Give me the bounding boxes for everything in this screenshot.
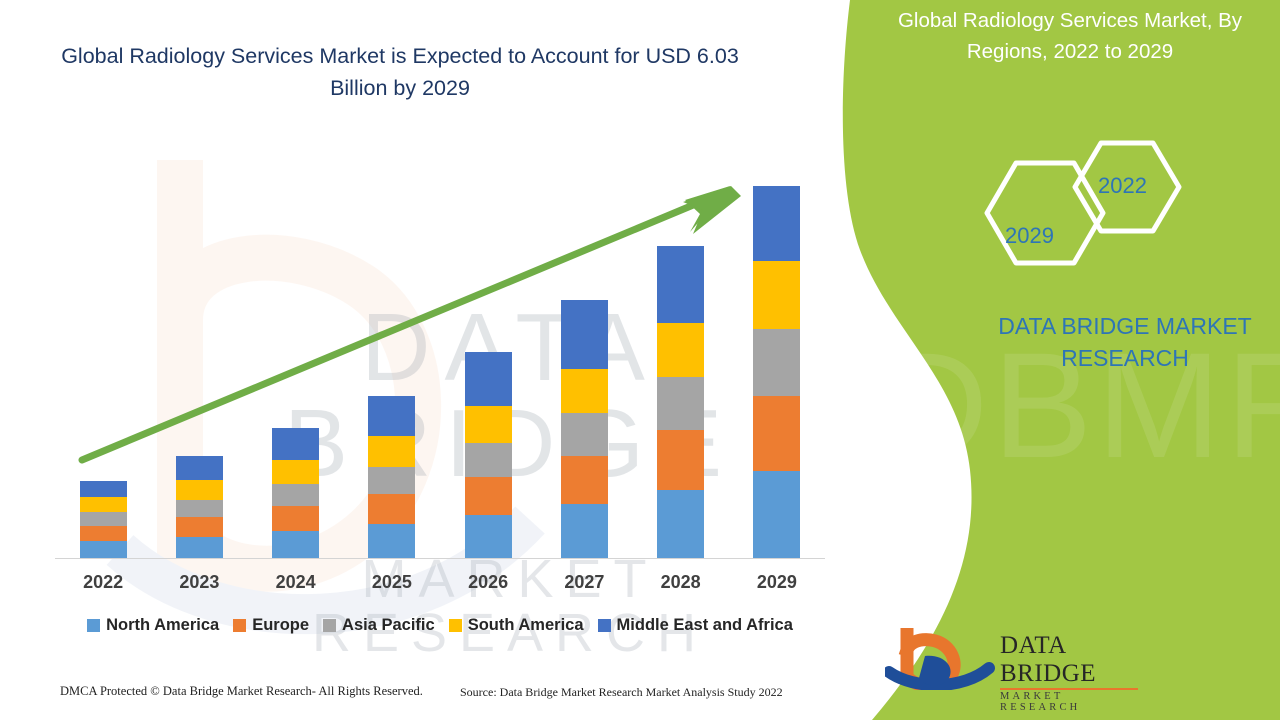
hexagon-label-start-year: 2022	[1098, 173, 1147, 199]
trend-arrow	[55, 170, 825, 560]
legend-swatch-icon	[87, 619, 100, 632]
x-axis-labels: 20222023202420252026202720282029	[55, 572, 825, 593]
x-axis-label-2023: 2023	[151, 572, 247, 593]
legend-item[interactable]: Middle East and Africa	[598, 616, 793, 635]
legend-label: Middle East and Africa	[617, 616, 793, 635]
infographic-canvas: DATA BRIDGE MARKET RESEARCH Global Radio…	[0, 0, 1280, 720]
legend-swatch-icon	[233, 619, 246, 632]
brand-line-2: RESEARCH	[940, 342, 1280, 374]
legend-label: North America	[106, 616, 219, 635]
logo-wordmark: DATA BRIDGE MARKET RESEARCH	[1000, 632, 1140, 713]
brand-name-panel: DATA BRIDGE MARKET RESEARCH	[940, 310, 1280, 374]
x-axis-label-2026: 2026	[440, 572, 536, 593]
x-axis-label-2027: 2027	[536, 572, 632, 593]
legend-swatch-icon	[598, 619, 611, 632]
legend-swatch-icon	[323, 619, 336, 632]
legend-item[interactable]: Europe	[233, 616, 309, 635]
logo-divider	[1000, 688, 1138, 690]
legend-item[interactable]: North America	[87, 616, 219, 635]
hexagon-group: 2022 2029	[975, 135, 1205, 295]
x-axis-label-2022: 2022	[55, 572, 151, 593]
x-axis-label-2029: 2029	[729, 572, 825, 593]
legend-swatch-icon	[449, 619, 462, 632]
logo-name: DATA BRIDGE	[1000, 632, 1140, 688]
brand-line-1: DATA BRIDGE MARKET	[940, 310, 1280, 342]
hexagon-label-end-year: 2029	[1005, 223, 1054, 249]
legend-item[interactable]: South America	[449, 616, 584, 635]
legend-item[interactable]: Asia Pacific	[323, 616, 435, 635]
x-axis-label-2028: 2028	[633, 572, 729, 593]
source-footer: Source: Data Bridge Market Research Mark…	[460, 685, 783, 700]
x-axis-label-2025: 2025	[344, 572, 440, 593]
legend-label: Asia Pacific	[342, 616, 435, 635]
legend-label: South America	[468, 616, 584, 635]
x-axis-label-2024: 2024	[248, 572, 344, 593]
panel-title: Global Radiology Services Market, By Reg…	[860, 0, 1280, 62]
dmca-footer: DMCA Protected © Data Bridge Market Rese…	[60, 684, 423, 699]
chart-legend: North AmericaEuropeAsia PacificSouth Ame…	[55, 616, 825, 635]
watermark-line2: MARKET RESEARCH	[180, 552, 840, 660]
legend-label: Europe	[252, 616, 309, 635]
logo-tagline: MARKET RESEARCH	[1000, 691, 1140, 713]
chart-title: Global Radiology Services Market is Expe…	[40, 40, 760, 104]
